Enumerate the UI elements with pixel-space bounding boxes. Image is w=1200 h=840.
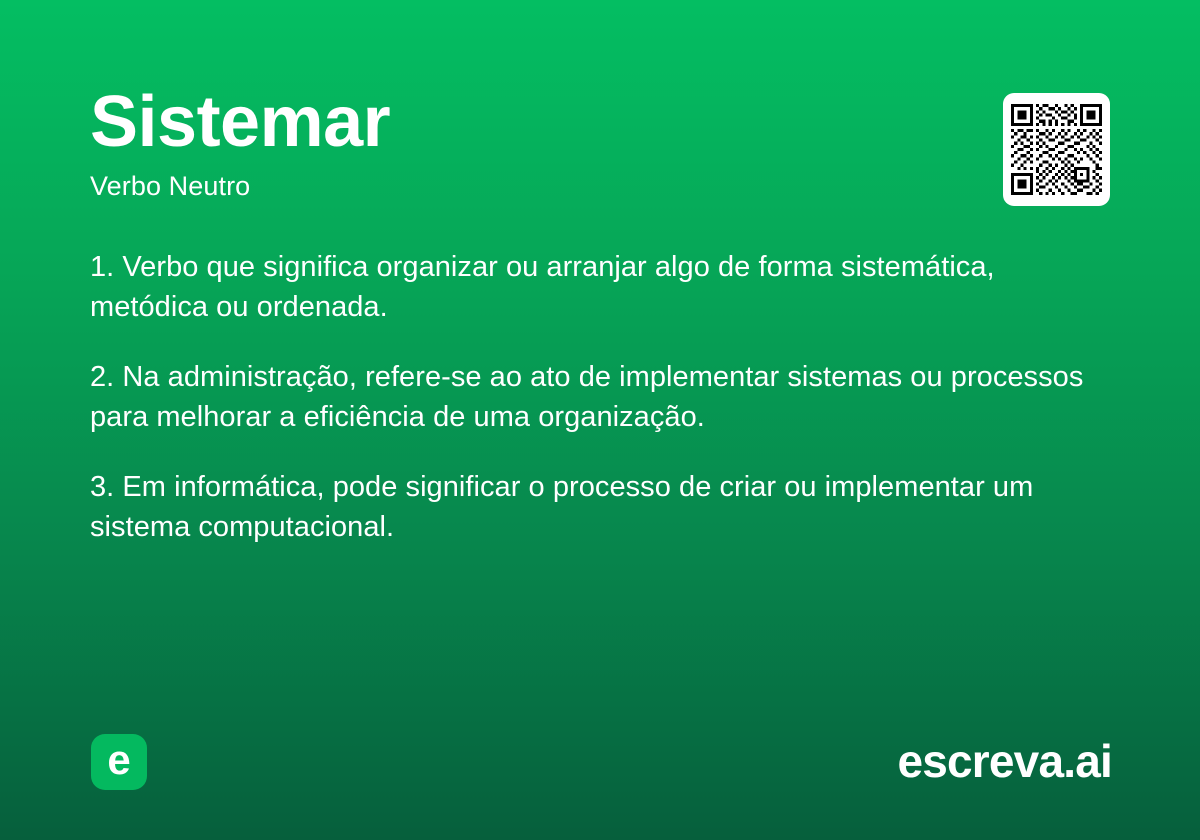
- qr-code-card[interactable]: [1003, 93, 1110, 206]
- page-title: Sistemar: [90, 86, 1110, 158]
- definition-card: Sistemar Verbo Neutro: [0, 0, 1200, 840]
- card-footer: e escreva.ai: [0, 734, 1200, 792]
- logo-letter-e: e: [107, 739, 130, 781]
- brand-wordmark: escreva.ai: [897, 738, 1112, 784]
- qr-code-icon: [1011, 104, 1102, 195]
- escreva-logo-badge[interactable]: e: [91, 734, 147, 790]
- card-header: Sistemar Verbo Neutro: [90, 86, 1110, 202]
- definition-item: 1. Verbo que significa organizar ou arra…: [90, 247, 1090, 327]
- definition-list: 1. Verbo que significa organizar ou arra…: [90, 247, 1090, 547]
- definition-item: 3. Em informática, pode significar o pro…: [90, 467, 1090, 547]
- definition-item: 2. Na administração, refere-se ao ato de…: [90, 357, 1090, 437]
- word-class-label: Verbo Neutro: [90, 172, 1110, 202]
